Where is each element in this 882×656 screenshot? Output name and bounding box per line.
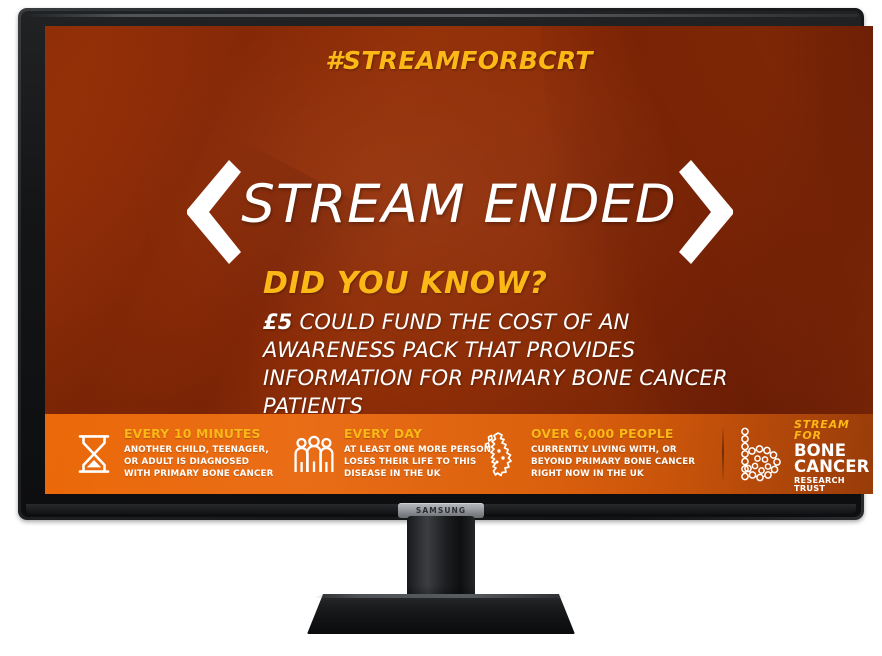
stat-line: AT LEAST ONE MORE PERSON xyxy=(344,444,491,456)
stat-line: LOSES THEIR LIFE TO THIS xyxy=(344,456,491,468)
stat-line: RIGHT NOW IN THE UK xyxy=(531,468,695,480)
stat-text: EVERY DAY AT LEAST ONE MORE PERSON LOSES… xyxy=(344,427,491,480)
stat-line: OR ADULT IS DIAGNOSED xyxy=(124,456,273,468)
did-you-know-heading: DID YOU KNOW? xyxy=(263,266,548,301)
stats-banner: EVERY 10 MINUTES ANOTHER CHILD, TEENAGER… xyxy=(45,414,873,494)
monitor-stand-base xyxy=(307,594,575,634)
stat-line: WITH PRIMARY BONE CANCER xyxy=(124,468,273,480)
stat-item: OVER 6,000 PEOPLE CURRENTLY LIVING WITH,… xyxy=(480,427,695,480)
stat-body: ANOTHER CHILD, TEENAGER, OR ADULT IS DIA… xyxy=(124,444,273,481)
stat-body: AT LEAST ONE MORE PERSON LOSES THEIR LIF… xyxy=(344,444,491,481)
bcrt-hexagon-b-icon xyxy=(735,427,789,483)
logo-cancer: CANCER xyxy=(794,459,869,475)
stat-headline: EVERY DAY xyxy=(344,427,491,441)
stat-line: ANOTHER CHILD, TEENAGER, xyxy=(124,444,273,456)
stat-body: CURRENTLY LIVING WITH, OR BEYOND PRIMARY… xyxy=(531,444,695,481)
fact-amount: £5 xyxy=(263,310,293,334)
monitor-stand-base-highlight xyxy=(307,594,575,598)
stat-line: CURRENTLY LIVING WITH, OR xyxy=(531,444,695,456)
monitor-frame: #STREAMFORBCRT STREAM ENDED DID YOU KNOW… xyxy=(18,8,864,520)
banner-divider xyxy=(722,428,724,480)
bcrt-logo: STREAM FOR BONE CANCER RESEARCH TRUST xyxy=(735,424,867,486)
people-group-icon xyxy=(293,432,335,476)
stat-text: OVER 6,000 PEOPLE CURRENTLY LIVING WITH,… xyxy=(531,427,695,480)
stat-line: BEYOND PRIMARY BONE CANCER xyxy=(531,456,695,468)
hourglass-icon xyxy=(73,432,115,476)
stat-text: EVERY 10 MINUTES ANOTHER CHILD, TEENAGER… xyxy=(124,427,273,480)
screenshot-root: #STREAMFORBCRT STREAM ENDED DID YOU KNOW… xyxy=(0,0,882,656)
fact-text: £5 COULD FUND THE COST OF AN AWARENESS P… xyxy=(263,309,763,421)
campaign-hashtag: #STREAMFORBCRT xyxy=(45,46,873,75)
stat-headline: EVERY 10 MINUTES xyxy=(124,427,273,441)
stat-line: DISEASE IN THE UK xyxy=(344,468,491,480)
logo-stream-for: STREAM FOR xyxy=(794,419,869,441)
monitor-screen: #STREAMFORBCRT STREAM ENDED DID YOU KNOW… xyxy=(45,26,873,494)
bezel-top-highlight xyxy=(24,14,858,17)
stat-item: EVERY DAY AT LEAST ONE MORE PERSON LOSES… xyxy=(293,427,491,480)
fact-body: COULD FUND THE COST OF AN AWARENESS PACK… xyxy=(263,310,728,418)
stream-overlay: #STREAMFORBCRT STREAM ENDED DID YOU KNOW… xyxy=(45,26,873,494)
uk-map-icon xyxy=(480,432,522,476)
logo-research-trust: RESEARCH TRUST xyxy=(794,476,869,492)
stat-item: EVERY 10 MINUTES ANOTHER CHILD, TEENAGER… xyxy=(73,427,273,480)
page-title: STREAM ENDED xyxy=(45,174,873,235)
stat-headline: OVER 6,000 PEOPLE xyxy=(531,427,695,441)
bcrt-logo-text: STREAM FOR BONE CANCER RESEARCH TRUST xyxy=(794,417,869,492)
